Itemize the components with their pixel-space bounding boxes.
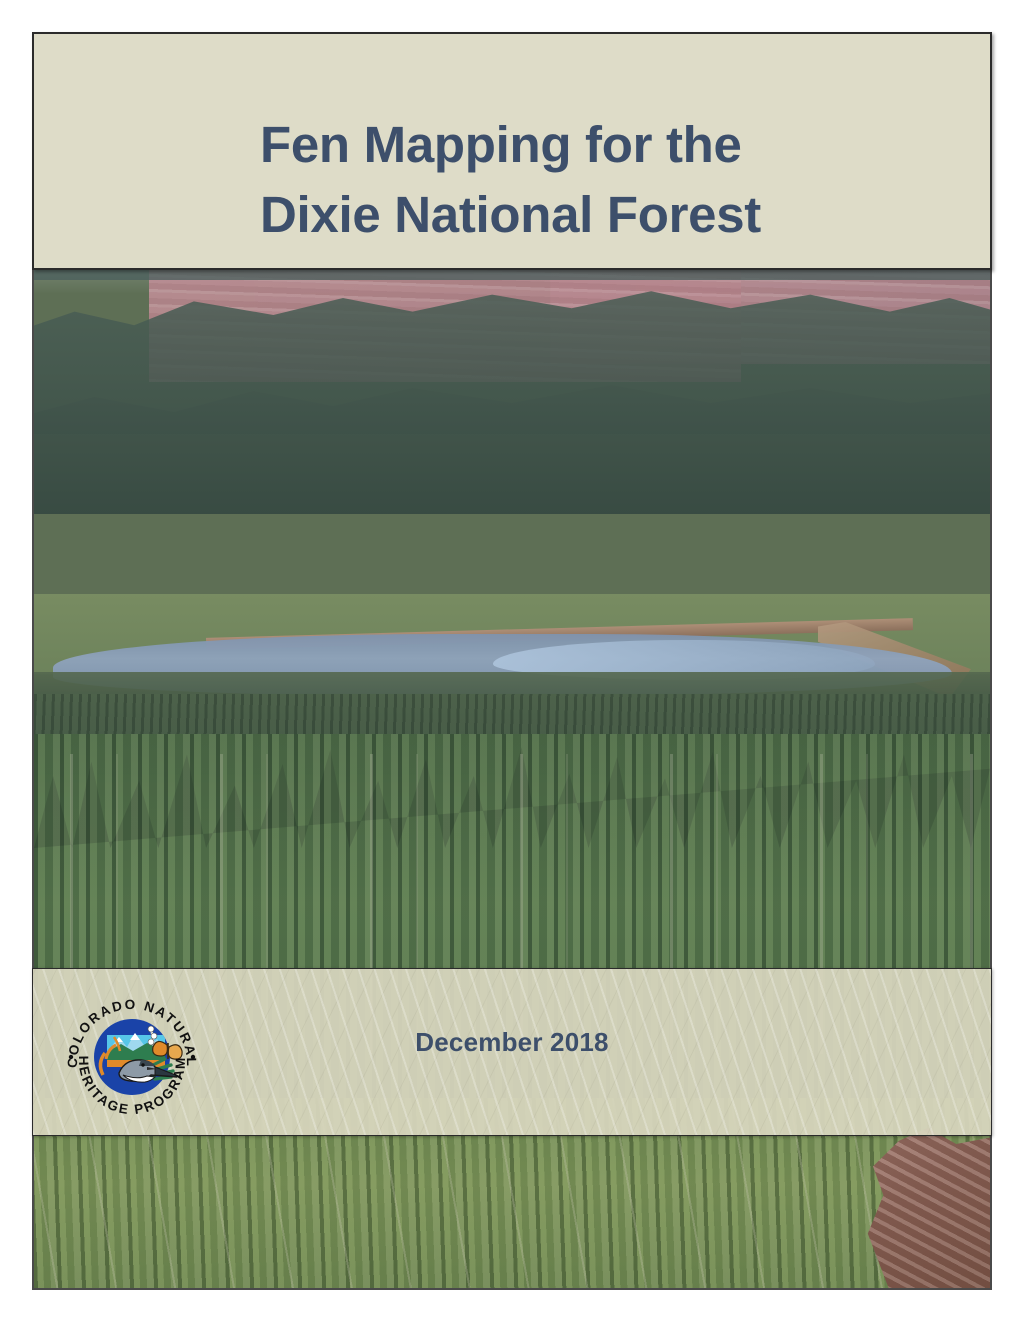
page-title: Fen Mapping for the Dixie National Fores…	[260, 110, 960, 250]
title-line-1: Fen Mapping for the	[260, 110, 960, 180]
title-block: Fen Mapping for the Dixie National Fores…	[32, 32, 992, 270]
publication-date: December 2018	[33, 1027, 991, 1058]
footer-banner: COLORADO NATURAL HERITAGE PROGRAM Decemb…	[32, 968, 992, 1136]
document-cover-page: Fen Mapping for the Dixie National Fores…	[0, 0, 1020, 1320]
title-line-2: Dixie National Forest	[260, 180, 960, 250]
